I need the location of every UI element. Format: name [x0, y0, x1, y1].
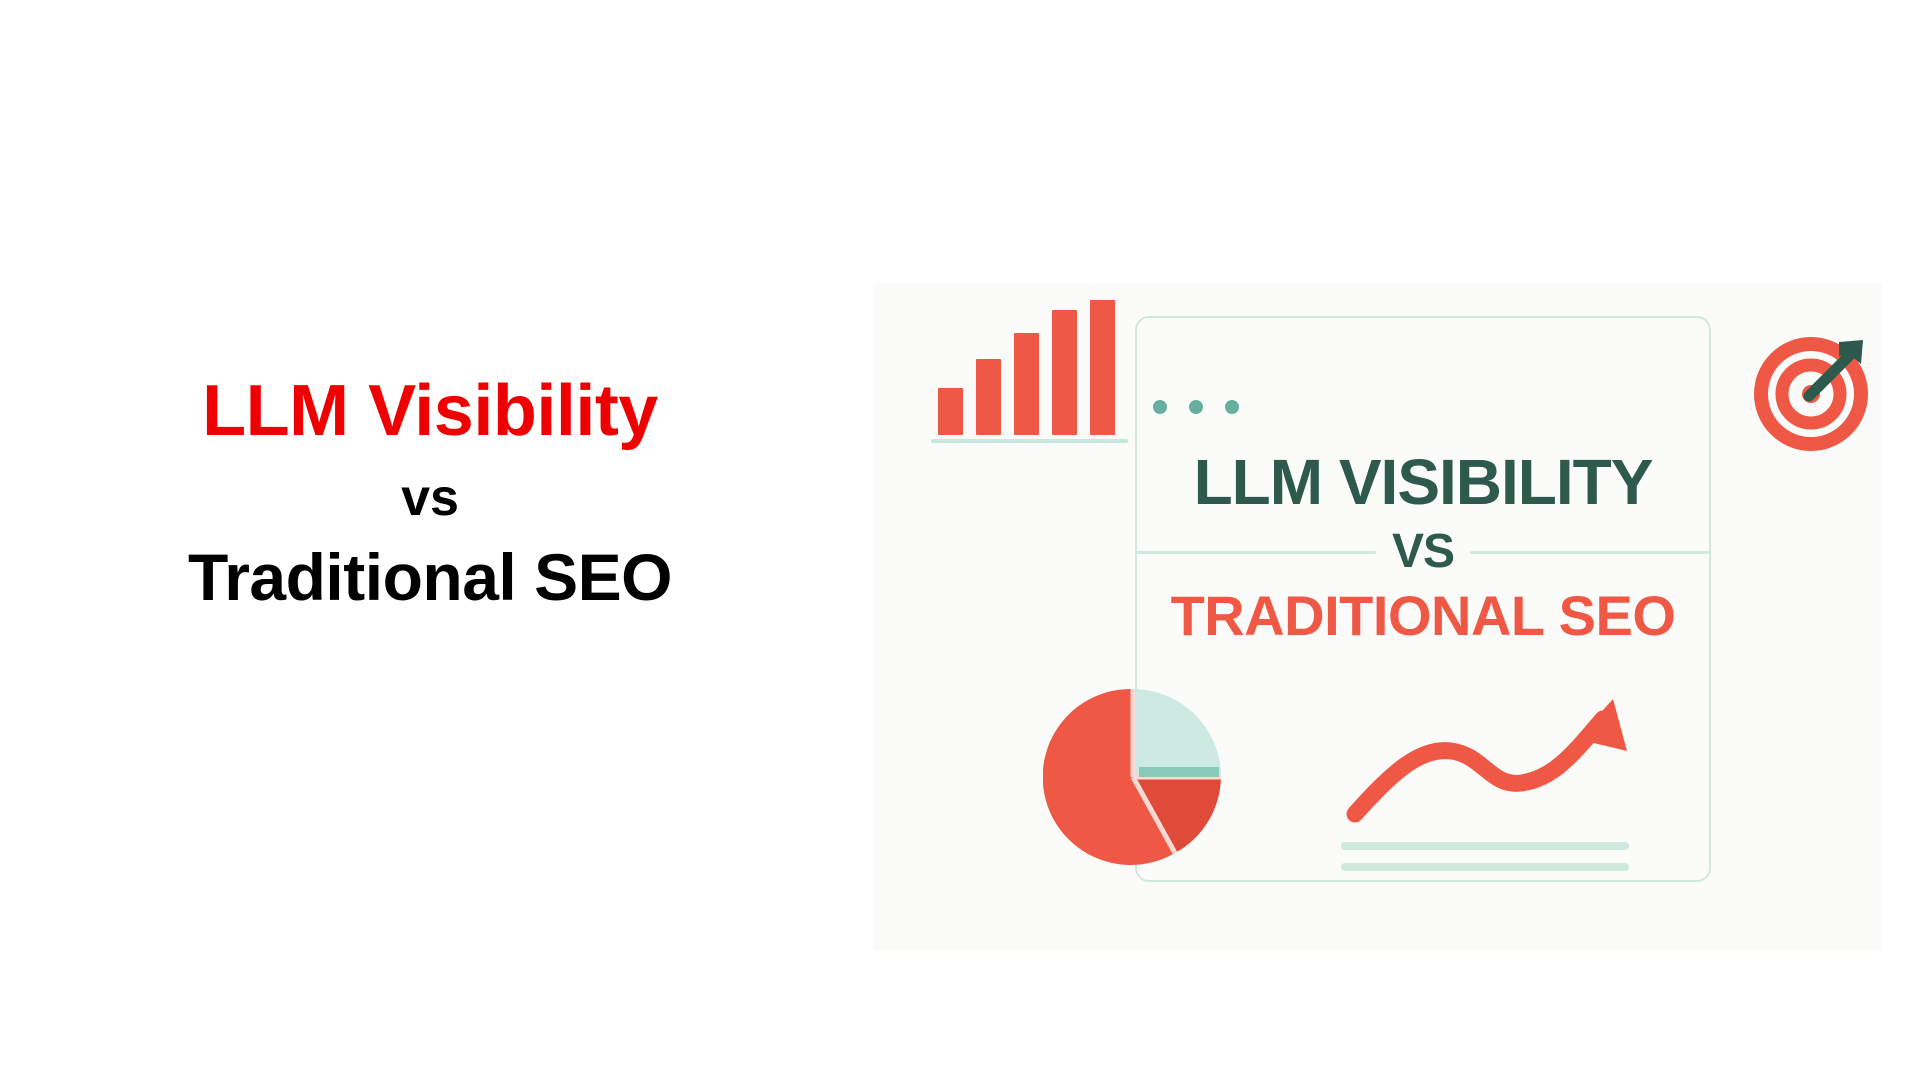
- headline-secondary: Traditional SEO: [0, 539, 860, 617]
- bar-chart-icon: [938, 300, 1138, 443]
- dot-2: [1189, 400, 1203, 414]
- graphic-vs-label: VS: [1392, 528, 1454, 576]
- target-arrow-shaft: [1809, 350, 1855, 396]
- bar-5: [1090, 300, 1115, 435]
- target-dartboard-icon: [1753, 328, 1877, 452]
- pie-slice-band: [1139, 767, 1219, 777]
- vs-rule-right: [1470, 551, 1711, 554]
- bar-2: [976, 359, 1001, 435]
- arrow-curve: [1355, 719, 1603, 814]
- pie-slice-mint: [1133, 689, 1221, 777]
- baseline-line-2: [1341, 863, 1629, 871]
- pie-chart-icon: [1043, 687, 1223, 867]
- vs-rule-left: [1135, 551, 1376, 554]
- bar-chart-baseline: [931, 439, 1128, 443]
- dot-3: [1225, 400, 1239, 414]
- growth-arrow-icon: [1341, 679, 1661, 879]
- bar-1: [938, 388, 963, 435]
- headline-vs: vs: [0, 466, 860, 531]
- graphic-subtitle: TRADITIONAL SEO: [1135, 588, 1711, 644]
- baseline-line-1: [1341, 842, 1629, 850]
- bar-4: [1052, 310, 1077, 435]
- headline-block: LLM Visibility vs Traditional SEO: [0, 370, 860, 617]
- page-root: LLM Visibility vs Traditional SEO LLM VI…: [0, 0, 1920, 1080]
- dot-1: [1153, 400, 1167, 414]
- headline-primary: LLM Visibility: [0, 370, 860, 452]
- graphic-title: LLM VISIBILITY: [1135, 450, 1711, 514]
- graphic-panel: LLM VISIBILITY VS TRADITIONAL SEO: [873, 283, 1882, 950]
- ellipsis-dots-icon: [1153, 400, 1243, 416]
- graphic-vs-row: VS: [1135, 526, 1711, 578]
- bar-3: [1014, 333, 1039, 435]
